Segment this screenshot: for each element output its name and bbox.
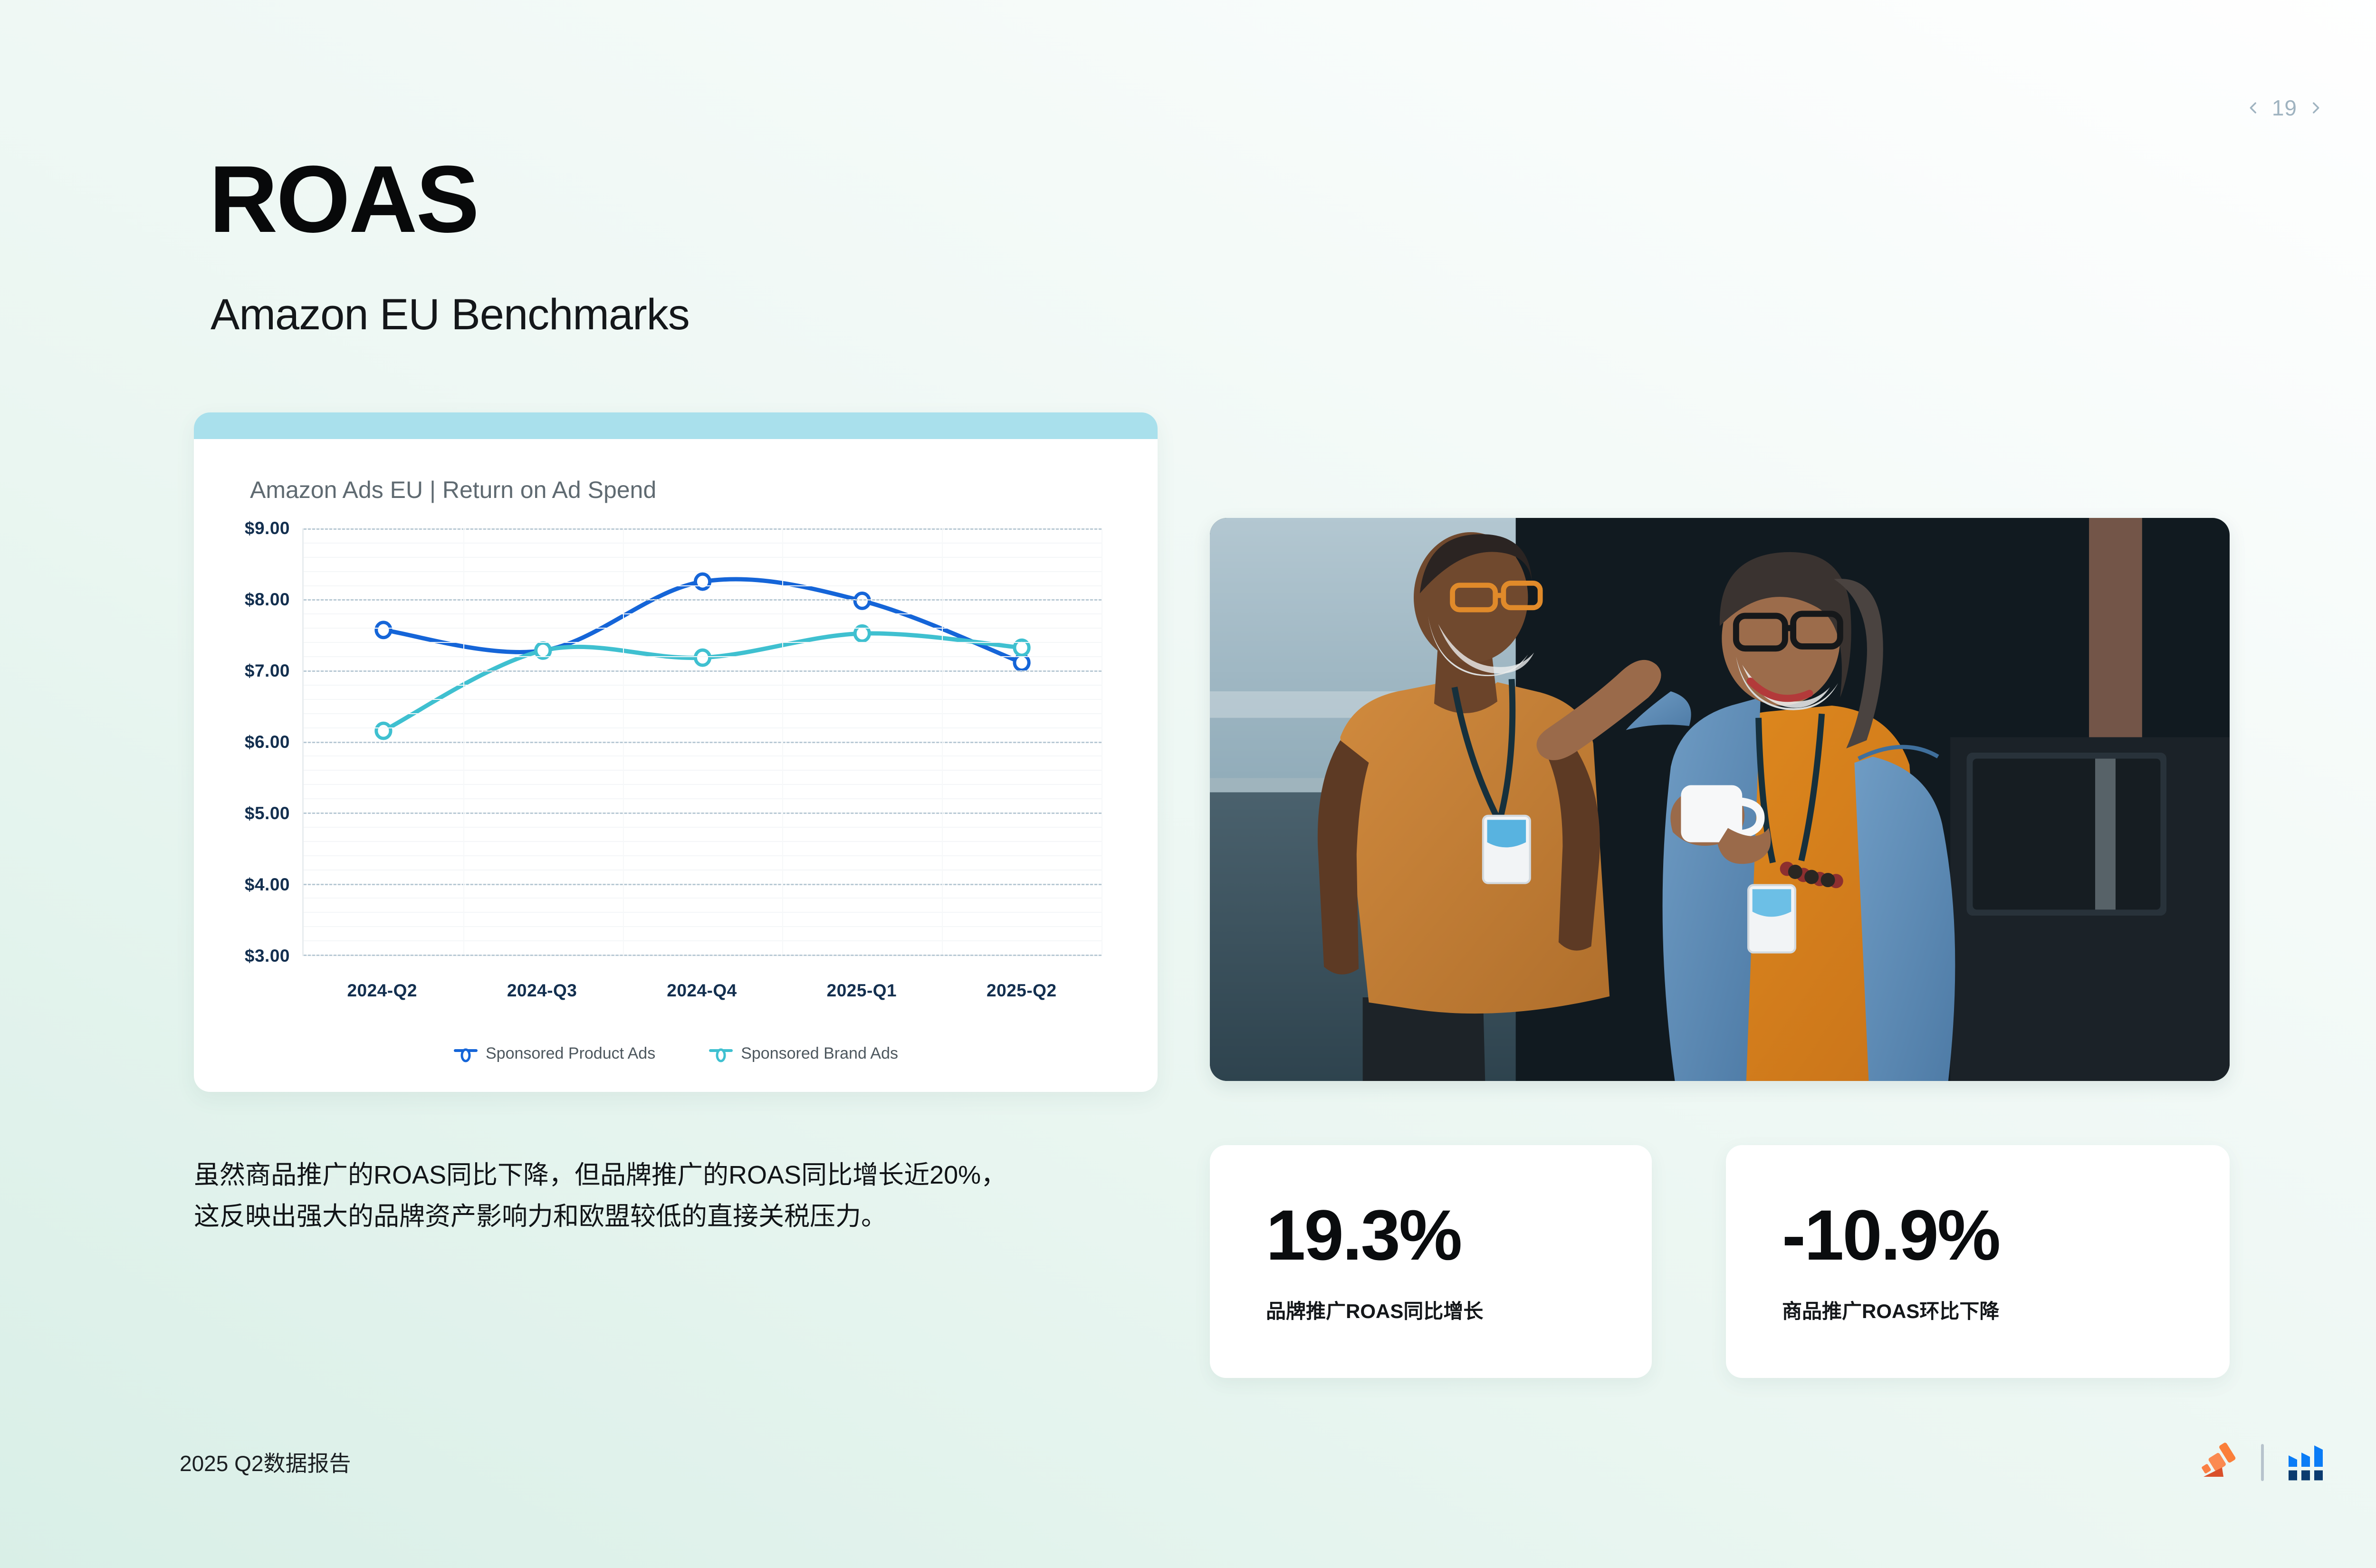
grid-line-minor xyxy=(304,642,1102,643)
y-axis-tick-label: $6.00 xyxy=(245,732,290,752)
data-point-marker[interactable] xyxy=(695,574,709,589)
data-point-marker[interactable] xyxy=(1015,655,1029,670)
grid-line-major xyxy=(304,528,1102,530)
blue-bar-chart-logo xyxy=(2283,1438,2328,1486)
roas-chart-card: Amazon Ads EU | Return on Ad Spend $3.00… xyxy=(194,412,1158,1092)
x-axis-labels: 2024-Q22024-Q32024-Q42025-Q12025-Q2 xyxy=(302,981,1102,1009)
grid-line-minor xyxy=(304,926,1102,927)
grid-line-minor xyxy=(304,755,1102,756)
grid-line-minor xyxy=(304,628,1102,629)
grid-line-minor xyxy=(304,898,1102,899)
kpi-card-brand-roas: 19.3% 品牌推广ROAS同比增长 xyxy=(1210,1145,1652,1378)
grid-line-minor xyxy=(304,585,1102,586)
page-number: 19 xyxy=(2272,95,2297,121)
page-subtitle: Amazon EU Benchmarks xyxy=(211,290,690,340)
legend-marker-icon xyxy=(709,1045,733,1063)
legend-marker-icon xyxy=(453,1045,478,1063)
hero-photo xyxy=(1210,518,2230,1081)
grid-line-minor xyxy=(304,912,1102,913)
grid-line-minor xyxy=(304,770,1102,771)
grid-line-minor xyxy=(304,855,1102,856)
chevron-right-icon[interactable] xyxy=(2308,100,2324,116)
legend-item[interactable]: Sponsored Product Ads xyxy=(453,1044,655,1063)
data-point-marker[interactable] xyxy=(376,622,391,638)
grid-line-vertical xyxy=(463,528,464,955)
chart-legend: Sponsored Product Ads Sponsored Brand Ad… xyxy=(194,1044,1158,1063)
logo-divider xyxy=(2261,1444,2264,1481)
x-axis-tick-label: 2025-Q2 xyxy=(987,981,1057,1001)
grid-line-minor xyxy=(304,727,1102,728)
insight-line-1: 虽然商品推广的ROAS同比下降，但品牌推广的ROAS同比增长近20%， xyxy=(194,1155,1135,1196)
chevron-left-icon[interactable] xyxy=(2245,100,2261,116)
grid-line-minor xyxy=(304,841,1102,842)
y-axis-tick-label: $7.00 xyxy=(245,661,290,681)
data-point-marker[interactable] xyxy=(376,723,391,738)
grid-line-minor xyxy=(304,571,1102,572)
grid-line-major xyxy=(304,742,1102,743)
data-point-marker[interactable] xyxy=(855,593,869,609)
card-accent-band xyxy=(194,412,1158,439)
y-axis-tick-label: $4.00 xyxy=(245,875,290,895)
grid-line-minor xyxy=(304,827,1102,828)
footer-report-label: 2025 Q2数据报告 xyxy=(180,1446,351,1478)
page-title: ROAS xyxy=(209,152,478,247)
page-navigation[interactable]: 19 xyxy=(2245,95,2324,121)
x-axis-tick-label: 2024-Q4 xyxy=(667,981,737,1001)
x-axis-tick-label: 2024-Q3 xyxy=(507,981,577,1001)
x-axis-tick-label: 2025-Q1 xyxy=(827,981,897,1001)
grid-line-minor xyxy=(304,940,1102,941)
kpi-label: 商品推广ROAS环比下降 xyxy=(1782,1295,2230,1324)
legend-label: Sponsored Product Ads xyxy=(486,1044,655,1063)
kpi-value: -10.9% xyxy=(1782,1199,2230,1271)
data-point-marker[interactable] xyxy=(695,650,709,665)
grid-line-minor xyxy=(304,557,1102,558)
grid-line-minor xyxy=(304,656,1102,657)
grid-line-vertical xyxy=(623,528,624,955)
y-axis-tick-label: $3.00 xyxy=(245,946,290,966)
grid-line-minor xyxy=(304,784,1102,785)
chart-plot-area: $3.00$4.00$5.00$6.00$7.00$8.00$9.00 2024… xyxy=(194,528,1158,956)
grid-line-vertical xyxy=(782,528,783,955)
legend-label: Sponsored Brand Ads xyxy=(741,1044,898,1063)
grid-line-minor xyxy=(304,613,1102,614)
grid-line-major xyxy=(304,955,1102,956)
x-axis-tick-label: 2024-Q2 xyxy=(347,981,417,1001)
grid-line-vertical xyxy=(1102,528,1102,955)
grid-line-minor xyxy=(304,699,1102,700)
grid-line-major xyxy=(304,813,1102,814)
photo-illustration xyxy=(1210,518,2230,1081)
grid-line-minor xyxy=(304,798,1102,799)
y-axis-tick-label: $5.00 xyxy=(245,803,290,823)
insight-line-2: 这反映出强大的品牌资产影响力和欧盟较低的直接关税压力。 xyxy=(194,1196,1135,1237)
grid-line-major xyxy=(304,670,1102,672)
footer-logos xyxy=(2196,1438,2328,1486)
kpi-card-product-roas: -10.9% 商品推广ROAS环比下降 xyxy=(1726,1145,2230,1378)
grid-line-minor xyxy=(304,870,1102,870)
legend-item[interactable]: Sponsored Brand Ads xyxy=(709,1044,898,1063)
plot-canvas xyxy=(302,528,1102,956)
grid-line-major xyxy=(304,599,1102,601)
chart-title: Amazon Ads EU | Return on Ad Spend xyxy=(250,476,1158,504)
grid-line-major xyxy=(304,884,1102,885)
y-axis-tick-label: $9.00 xyxy=(245,518,290,538)
grid-line-minor xyxy=(304,713,1102,714)
y-axis-tick-label: $8.00 xyxy=(245,590,290,610)
grid-line-minor xyxy=(304,543,1102,544)
grid-line-minor xyxy=(304,685,1102,686)
kpi-label: 品牌推广ROAS同比增长 xyxy=(1266,1295,1652,1324)
insight-paragraph: 虽然商品推广的ROAS同比下降，但品牌推广的ROAS同比增长近20%， 这反映出… xyxy=(194,1155,1135,1238)
y-axis-labels: $3.00$4.00$5.00$6.00$7.00$8.00$9.00 xyxy=(194,528,298,956)
orange-megaphone-logo xyxy=(2196,1438,2242,1486)
grid-line-vertical xyxy=(942,528,943,955)
kpi-value: 19.3% xyxy=(1266,1199,1652,1271)
